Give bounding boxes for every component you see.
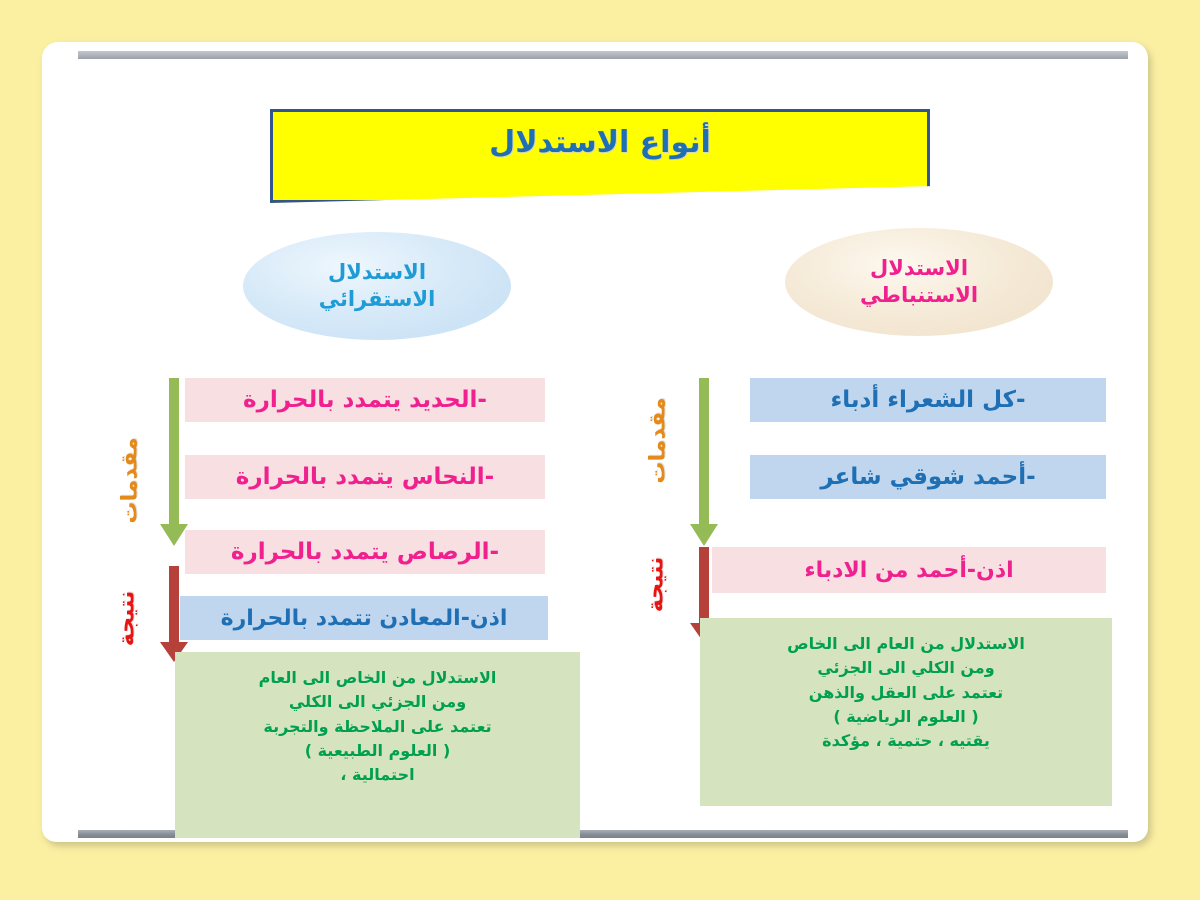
inductive-premise-3: -الرصاص يتمدد بالحرارة	[185, 530, 545, 574]
summary-line: ومن الجزئي الى الكلي	[175, 690, 580, 714]
deductive-conclusion-label: نتيجة	[644, 540, 669, 630]
slide-canvas: أنواع الاستدلال الاستدلال الاستقرائي مقد…	[0, 0, 1200, 900]
top-divider-bar	[78, 51, 1128, 59]
deductive-heading-line2: الاستنباطي	[860, 282, 978, 309]
inductive-summary-panel: الاستدلال من الخاص الى العام ومن الجزئي …	[175, 652, 580, 838]
deductive-premise-2: -أحمد شوقي شاعر	[750, 455, 1106, 499]
deductive-premises-arrow-down-icon	[688, 378, 720, 546]
inductive-conclusion: اذن-المعادن تتمدد بالحرارة	[180, 596, 548, 640]
summary-line: تعتمد على العقل والذهن	[700, 681, 1112, 705]
arrow-shaft	[169, 378, 179, 524]
summary-line: احتمالية ،	[175, 763, 580, 787]
arrow-shaft	[699, 378, 709, 524]
title-banner: أنواع الاستدلال	[270, 109, 930, 203]
deductive-premise-1: -كل الشعراء أدباء	[750, 378, 1106, 422]
arrow-head	[690, 524, 718, 546]
arrow-shaft	[699, 547, 709, 623]
deductive-conclusion: اذن-أحمد من الادباء	[712, 547, 1106, 593]
inductive-premise-2: -النحاس يتمدد بالحرارة	[185, 455, 545, 499]
inductive-premises-label: مقدمات	[118, 436, 143, 526]
summary-line: تعتمد على الملاحظة والتجربة	[175, 715, 580, 739]
inductive-heading-line1: الاستدلال	[328, 259, 426, 286]
deductive-heading-line1: الاستدلال	[870, 255, 968, 282]
summary-line: الاستدلال من الخاص الى العام	[175, 666, 580, 690]
summary-line: ( العلوم الرياضية )	[700, 705, 1112, 729]
summary-line: ومن الكلي الى الجزئي	[700, 656, 1112, 680]
deductive-summary-panel: الاستدلال من العام الى الخاص ومن الكلي ا…	[700, 618, 1112, 806]
summary-line: ( العلوم الطبيعية )	[175, 739, 580, 763]
page-title: أنواع الاستدلال	[270, 125, 930, 160]
inductive-premise-1: -الحديد يتمدد بالحرارة	[185, 378, 545, 422]
deductive-premises-label: مقدمات	[646, 396, 671, 486]
inductive-heading-line2: الاستقرائي	[319, 286, 436, 313]
summary-line: الاستدلال من العام الى الخاص	[700, 632, 1112, 656]
summary-line: يقتيه ، حتمية ، مؤكدة	[700, 729, 1112, 753]
arrow-head	[160, 524, 188, 546]
branch-heading-inductive: الاستدلال الاستقرائي	[243, 232, 511, 340]
arrow-shaft	[169, 566, 179, 642]
inductive-conclusion-label: نتيجة	[115, 574, 140, 664]
branch-heading-deductive: الاستدلال الاستنباطي	[785, 228, 1053, 336]
